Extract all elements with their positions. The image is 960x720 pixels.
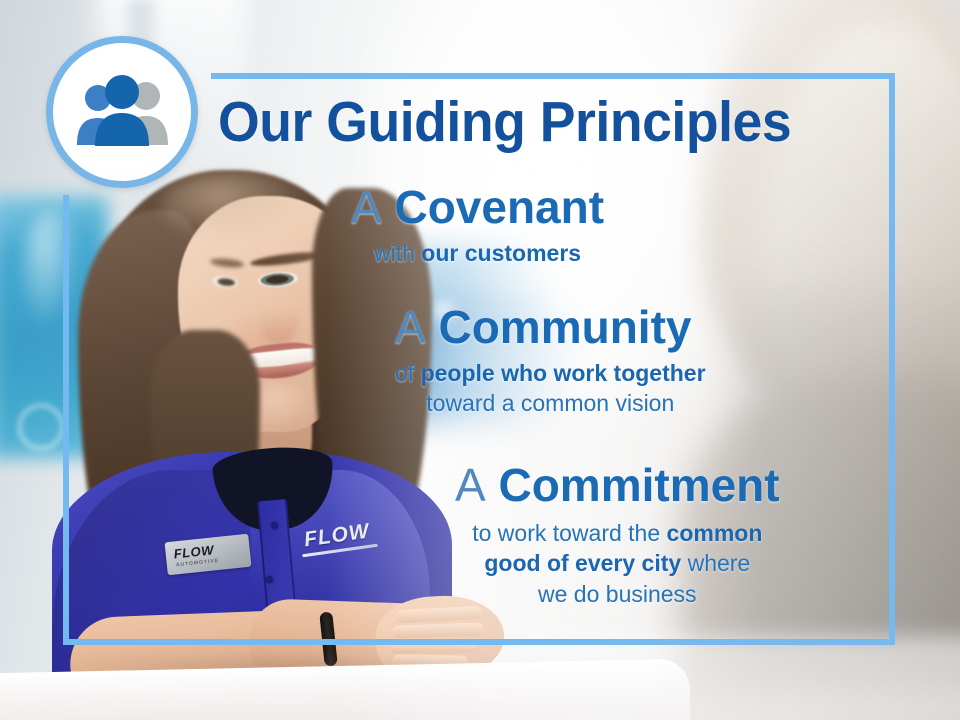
foreground-customer-blurred (660, 0, 960, 520)
principle-article: A (351, 181, 382, 233)
principle-subtext-line: to work toward the common (455, 518, 780, 549)
principle-subtext: to work toward the commongood of every c… (455, 518, 780, 610)
principle-subtext-line: with our customers (351, 238, 604, 269)
principle-covenant: A Covenant with our customers (351, 184, 604, 268)
people-group-badge (46, 36, 198, 188)
principle-headline: A Covenant (351, 184, 604, 232)
principle-keyword: Community (438, 301, 691, 353)
principle-subtext-line: good of every city where (455, 548, 780, 579)
shirt-button (271, 522, 278, 529)
principle-article: A (455, 459, 486, 511)
principle-article: A (395, 301, 426, 353)
employee-hair-sheen (160, 172, 310, 242)
principle-subtext-line: we do business (455, 579, 780, 610)
principle-commitment: A Commitment to work toward the commongo… (455, 462, 780, 610)
principle-subtext-line: of people who work together (395, 358, 706, 389)
principle-headline: A Community (395, 304, 706, 352)
shirt-button (266, 576, 273, 583)
principle-headline: A Commitment (455, 462, 780, 510)
principle-subtext: of people who work togethertoward a comm… (395, 358, 706, 419)
employee-finger (390, 639, 478, 654)
principle-keyword: Commitment (498, 459, 779, 511)
guiding-principles-graphic: FLOW AUTOMOTIVE FLOW (0, 0, 960, 720)
principle-keyword: Covenant (394, 181, 604, 233)
principle-subtext-line: toward a common vision (395, 388, 706, 419)
people-group-icon (68, 75, 176, 149)
page-title: Our Guiding Principles (218, 94, 791, 151)
principle-community: A Community of people who work togethert… (395, 304, 706, 419)
principle-subtext: with our customers (351, 238, 604, 269)
